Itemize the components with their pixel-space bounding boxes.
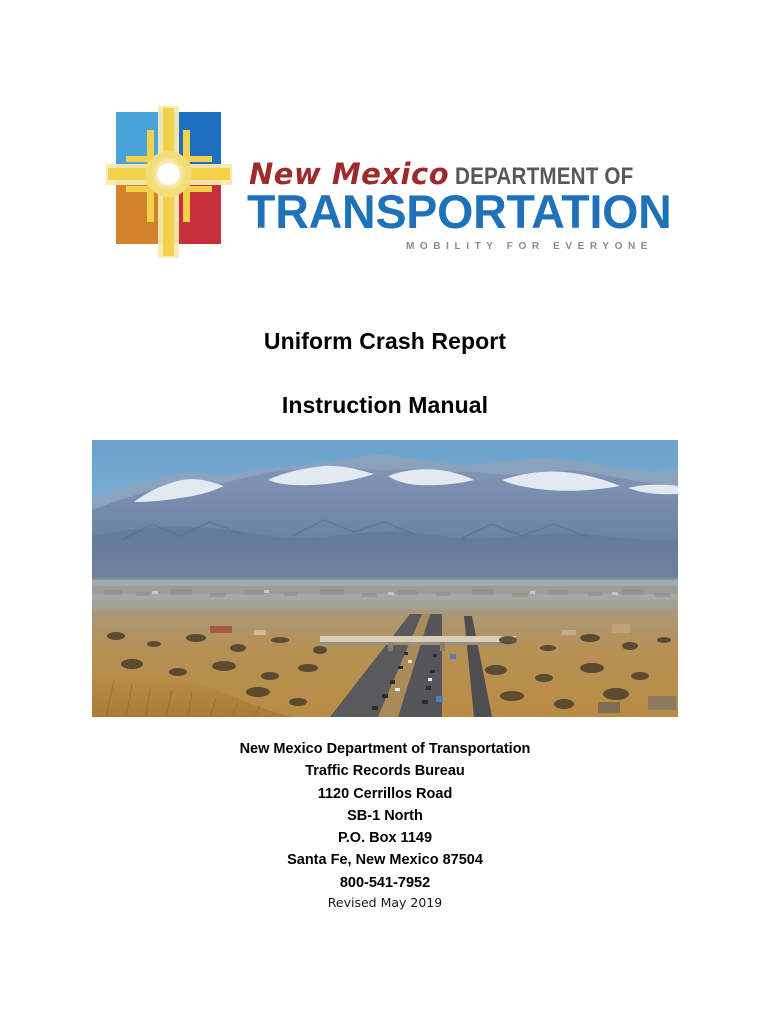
- page-title-line-2: Instruction Manual: [0, 392, 770, 419]
- address-line: 1120 Cerrillos Road: [0, 783, 770, 805]
- document-page: New MexicoDEPARTMENT OF TRANSPORTATION M…: [0, 0, 770, 1024]
- nmdot-logo-mark-icon: [106, 106, 232, 258]
- address-line: P.O. Box 1149: [0, 827, 770, 849]
- nmdot-logo: New MexicoDEPARTMENT OF TRANSPORTATION M…: [106, 104, 662, 266]
- address-line: Traffic Records Bureau: [0, 760, 770, 782]
- agency-address-block: New Mexico Department of Transportation …: [0, 738, 770, 894]
- logo-agency-text: TRANSPORTATION: [247, 188, 672, 235]
- cover-photograph: [92, 440, 678, 717]
- address-line: Santa Fe, New Mexico 87504: [0, 849, 770, 871]
- address-line: SB-1 North: [0, 805, 770, 827]
- nmdot-logo-wordmark: New MexicoDEPARTMENT OF TRANSPORTATION M…: [249, 160, 661, 266]
- address-phone-line: 800-541-7952: [0, 872, 770, 894]
- revision-date: Revised May 2019: [0, 895, 770, 910]
- logo-tagline: MOBILITY FOR EVERYONE: [406, 242, 653, 252]
- page-title-line-1: Uniform Crash Report: [0, 328, 770, 355]
- address-line: New Mexico Department of Transportation: [0, 738, 770, 760]
